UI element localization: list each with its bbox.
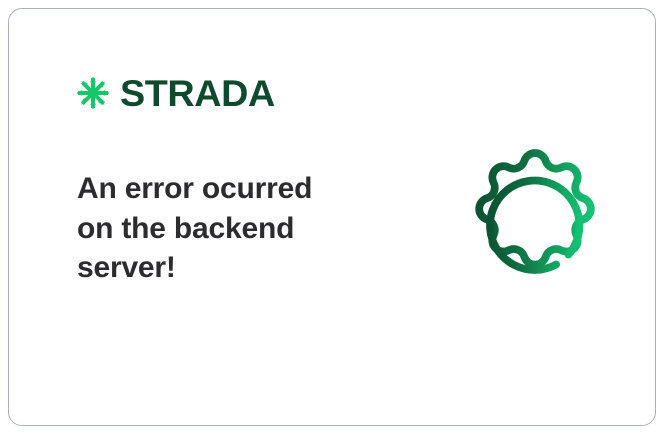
strada-asterisk-icon — [75, 75, 111, 111]
brand-wordmark: STRADA — [120, 75, 275, 112]
brand-lockup: STRADA — [75, 71, 272, 115]
error-message-text: An error ocurred on the backend server! — [77, 169, 377, 288]
gear-loading-icon — [449, 141, 621, 313]
error-card: STRADA An error ocurred on the backend s… — [8, 8, 656, 426]
